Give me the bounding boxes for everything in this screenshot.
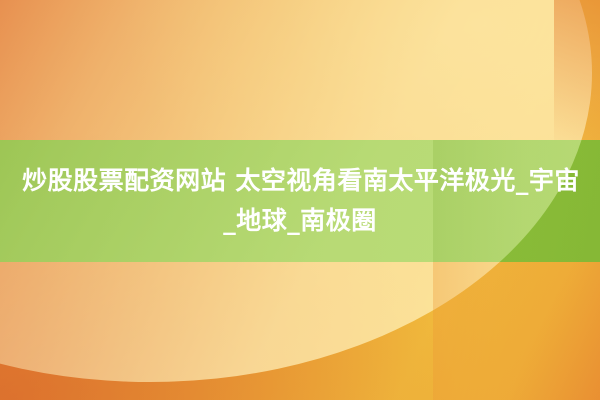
promo-banner: 炒股股票配资网站 太空视角看南太平洋极光_宇宙 _地球_南极圈 [0,0,600,400]
vertical-edge-accent [433,262,600,400]
top-right-corner-wedge [554,0,600,150]
banner-title-line-2: _地球_南极圈 [223,201,377,241]
banner-title-block: 炒股股票配资网站 太空视角看南太平洋极光_宇宙 _地球_南极圈 [0,140,600,262]
banner-title-line-1: 炒股股票配资网站 太空视角看南太平洋极光_宇宙 [22,161,580,201]
